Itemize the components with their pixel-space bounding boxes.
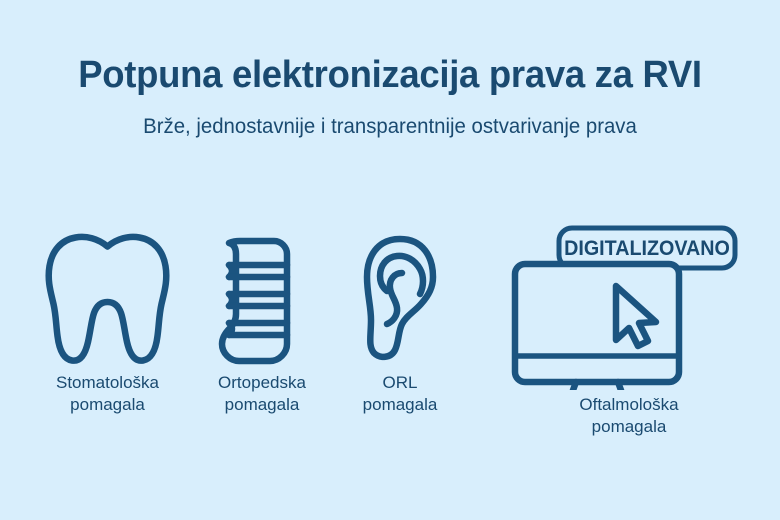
category-label-orl: ORL pomagala bbox=[330, 372, 470, 416]
header: Potpuna elektronizacija prava za RVI Brž… bbox=[0, 52, 780, 140]
ear-icon bbox=[330, 232, 470, 368]
monitor-cursor-icon: DIGITALIZOVANO bbox=[498, 222, 760, 390]
leg-cast-icon bbox=[196, 232, 328, 368]
page-subtitle: Brže, jednostavnije i transparentnije os… bbox=[12, 114, 769, 140]
category-label-ophthalmologic: Oftalmološka pomagala bbox=[498, 394, 760, 438]
category-label-dental: Stomatološka pomagala bbox=[20, 372, 195, 416]
infographic-canvas: Potpuna elektronizacija prava za RVI Brž… bbox=[0, 0, 780, 520]
category-label-orthopedic: Ortopedska pomagala bbox=[196, 372, 328, 416]
tooth-icon bbox=[20, 232, 195, 368]
page-title: Potpuna elektronizacija prava za RVI bbox=[16, 52, 765, 98]
digitalizovano-badge-text: DIGITALIZOVANO bbox=[564, 237, 730, 260]
